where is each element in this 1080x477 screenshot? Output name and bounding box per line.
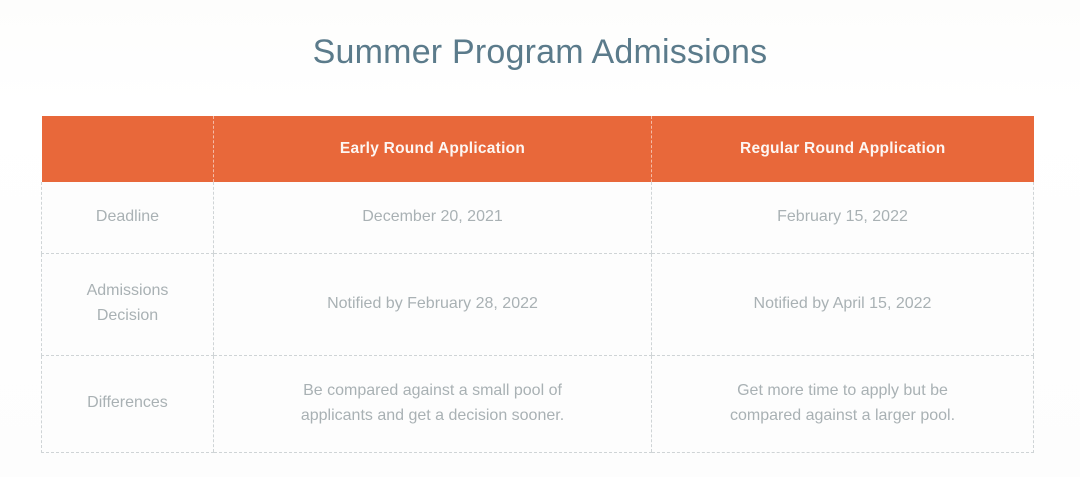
cell-deadline-regular: February 15, 2022 xyxy=(652,182,1034,253)
row-label-differences: Differences xyxy=(42,355,214,452)
table-row: Admissions Decision Notified by February… xyxy=(42,253,1034,355)
table-row: Deadline December 20, 2021 February 15, … xyxy=(42,182,1034,253)
page-title: Summer Program Admissions xyxy=(313,31,768,74)
row-label-deadline-line-1: Deadline xyxy=(56,205,199,230)
row-label-admissions-decision: Admissions Decision xyxy=(42,253,214,355)
table-row: Differences Be compared against a small … xyxy=(42,355,1034,452)
table-header-corner xyxy=(42,116,214,182)
cell-differences-regular-line-2: compared against a larger pool. xyxy=(666,404,1019,429)
table-body: Deadline December 20, 2021 February 15, … xyxy=(42,182,1034,452)
cell-decision-regular-line-1: Notified by April 15, 2022 xyxy=(666,292,1019,317)
cell-deadline-early: December 20, 2021 xyxy=(214,182,652,253)
cell-differences-regular: Get more time to apply but be compared a… xyxy=(652,355,1034,452)
table-header: Early Round Application Regular Round Ap… xyxy=(42,116,1034,182)
cell-deadline-early-line-1: December 20, 2021 xyxy=(228,205,637,230)
cell-differences-early: Be compared against a small pool of appl… xyxy=(214,355,652,452)
cell-deadline-regular-line-1: February 15, 2022 xyxy=(666,205,1019,230)
row-label-differences-line-1: Differences xyxy=(56,391,199,416)
table-header-row: Early Round Application Regular Round Ap… xyxy=(42,116,1034,182)
row-label-admissions-decision-line-1: Admissions xyxy=(56,279,199,304)
table-header-regular-round: Regular Round Application xyxy=(652,116,1034,182)
table-header-early-round: Early Round Application xyxy=(214,116,652,182)
cell-differences-early-line-2: applicants and get a decision sooner. xyxy=(228,404,637,429)
cell-differences-regular-line-1: Get more time to apply but be xyxy=(666,379,1019,404)
cell-decision-early-line-1: Notified by February 28, 2022 xyxy=(228,292,637,317)
cell-decision-regular: Notified by April 15, 2022 xyxy=(652,253,1034,355)
row-label-deadline: Deadline xyxy=(42,182,214,253)
admissions-comparison-table: Early Round Application Regular Round Ap… xyxy=(41,116,1034,453)
cell-decision-early: Notified by February 28, 2022 xyxy=(214,253,652,355)
cell-differences-early-line-1: Be compared against a small pool of xyxy=(228,379,637,404)
title-block: Summer Program Admissions xyxy=(0,8,1080,96)
row-label-admissions-decision-line-2: Decision xyxy=(56,304,199,329)
